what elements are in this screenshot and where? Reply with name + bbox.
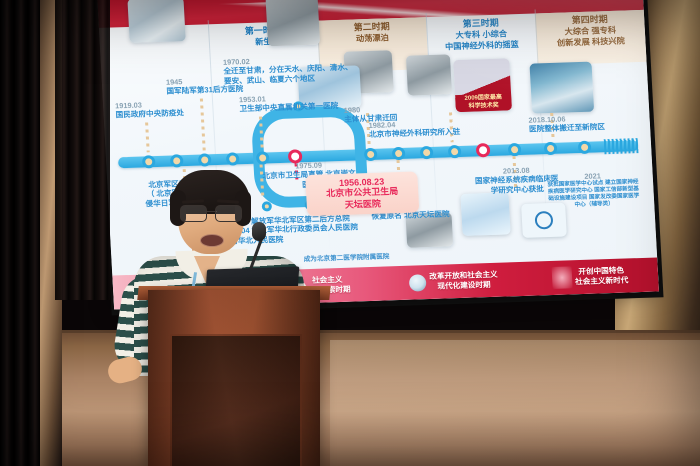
period-subtitle-2: 中国神经外科的摇篮 xyxy=(427,39,537,54)
presenter-mouth xyxy=(200,234,224,247)
ncnc-ring-icon xyxy=(534,211,553,230)
timeline-rail xyxy=(118,140,638,168)
glasses-lens-right xyxy=(215,205,242,222)
period-subtitle-2: 创新发展 科技兴院 xyxy=(536,35,646,50)
microphone-head-icon xyxy=(252,222,266,241)
photo-scene: …共命运 天 首都医科大学附属北京天坛医院 BEIJING TIANTAN HO… xyxy=(0,0,700,466)
timeline-entry-1953: 1953.01 卫生部中央直属机关第一医院 xyxy=(239,92,339,114)
photo-old-street xyxy=(265,0,320,46)
timeline-entry-1982-04: 1982.04 北京市神经外科研究所入驻 xyxy=(368,118,460,140)
timeline-entry-1970: 1970.02 全迁至甘肃，分在天水、庆阳、清水、要安、武山、临夏六个地区 xyxy=(223,53,356,86)
era-item-3: 改革开放和社会主义 现代化建设时期 xyxy=(385,269,522,293)
photo-group-ceremony xyxy=(406,54,452,95)
entry-text: 国军陆军第31后方医院 xyxy=(166,84,243,96)
portrait-photo-icon xyxy=(409,274,427,292)
timeline-connector xyxy=(145,122,150,152)
timeline-entry-2021: 2021 获批国家医学中心试点 建立国家神经疾病医学研究中心 国家工信部新型基础… xyxy=(545,170,641,210)
timeline-entry-2018: 2018.10.06 医院整体搬迁至新院区 xyxy=(528,113,605,134)
stage-curtain-left xyxy=(0,0,40,466)
photo-lab-interior xyxy=(460,192,510,236)
stage-curtain-inner xyxy=(55,0,110,300)
glasses-lens-left xyxy=(180,205,207,222)
timeline-connector xyxy=(200,98,206,150)
period-column-5: 第四时期 大综合 强专科 创新发展 科技兴院 xyxy=(535,10,647,66)
photo-historic-building xyxy=(127,0,185,43)
entry-text: 医院整体搬迁至新院区 xyxy=(529,122,605,134)
photo-award-caption: 2009国家最高科学技术奖 xyxy=(455,93,512,112)
period-subtitle: 动荡漂泊 xyxy=(318,31,428,46)
entry-text: 获批国家医学中心试点 建立国家神经疾病医学研究中心 国家工信部新型基础设施建设项… xyxy=(546,179,641,210)
podium-shading xyxy=(148,290,320,466)
timeline-end-hatching xyxy=(604,138,639,154)
era-item-4: 开创中国特色 社会主义新时代 xyxy=(521,263,658,289)
entry-text: 北京市神经外科研究所入驻 xyxy=(369,127,461,139)
national-emblem-icon xyxy=(551,266,572,289)
entry-text: 国民政府中央防疫处 xyxy=(115,108,184,120)
floor-reflection xyxy=(330,340,700,466)
presenter-glasses xyxy=(180,205,242,220)
floor-wall-seam xyxy=(0,330,700,333)
photo-award-ceremony: 2009国家最高科学技术奖 xyxy=(453,58,512,112)
photo-new-campus-aerial xyxy=(529,62,594,114)
timeline-entry-1919: 1919.03 国民政府中央防疫处 xyxy=(115,99,184,120)
era-label: 开创中国特色 社会主义新时代 xyxy=(574,266,628,287)
era-label: 改革开放和社会主义 现代化建设时期 xyxy=(429,270,498,292)
